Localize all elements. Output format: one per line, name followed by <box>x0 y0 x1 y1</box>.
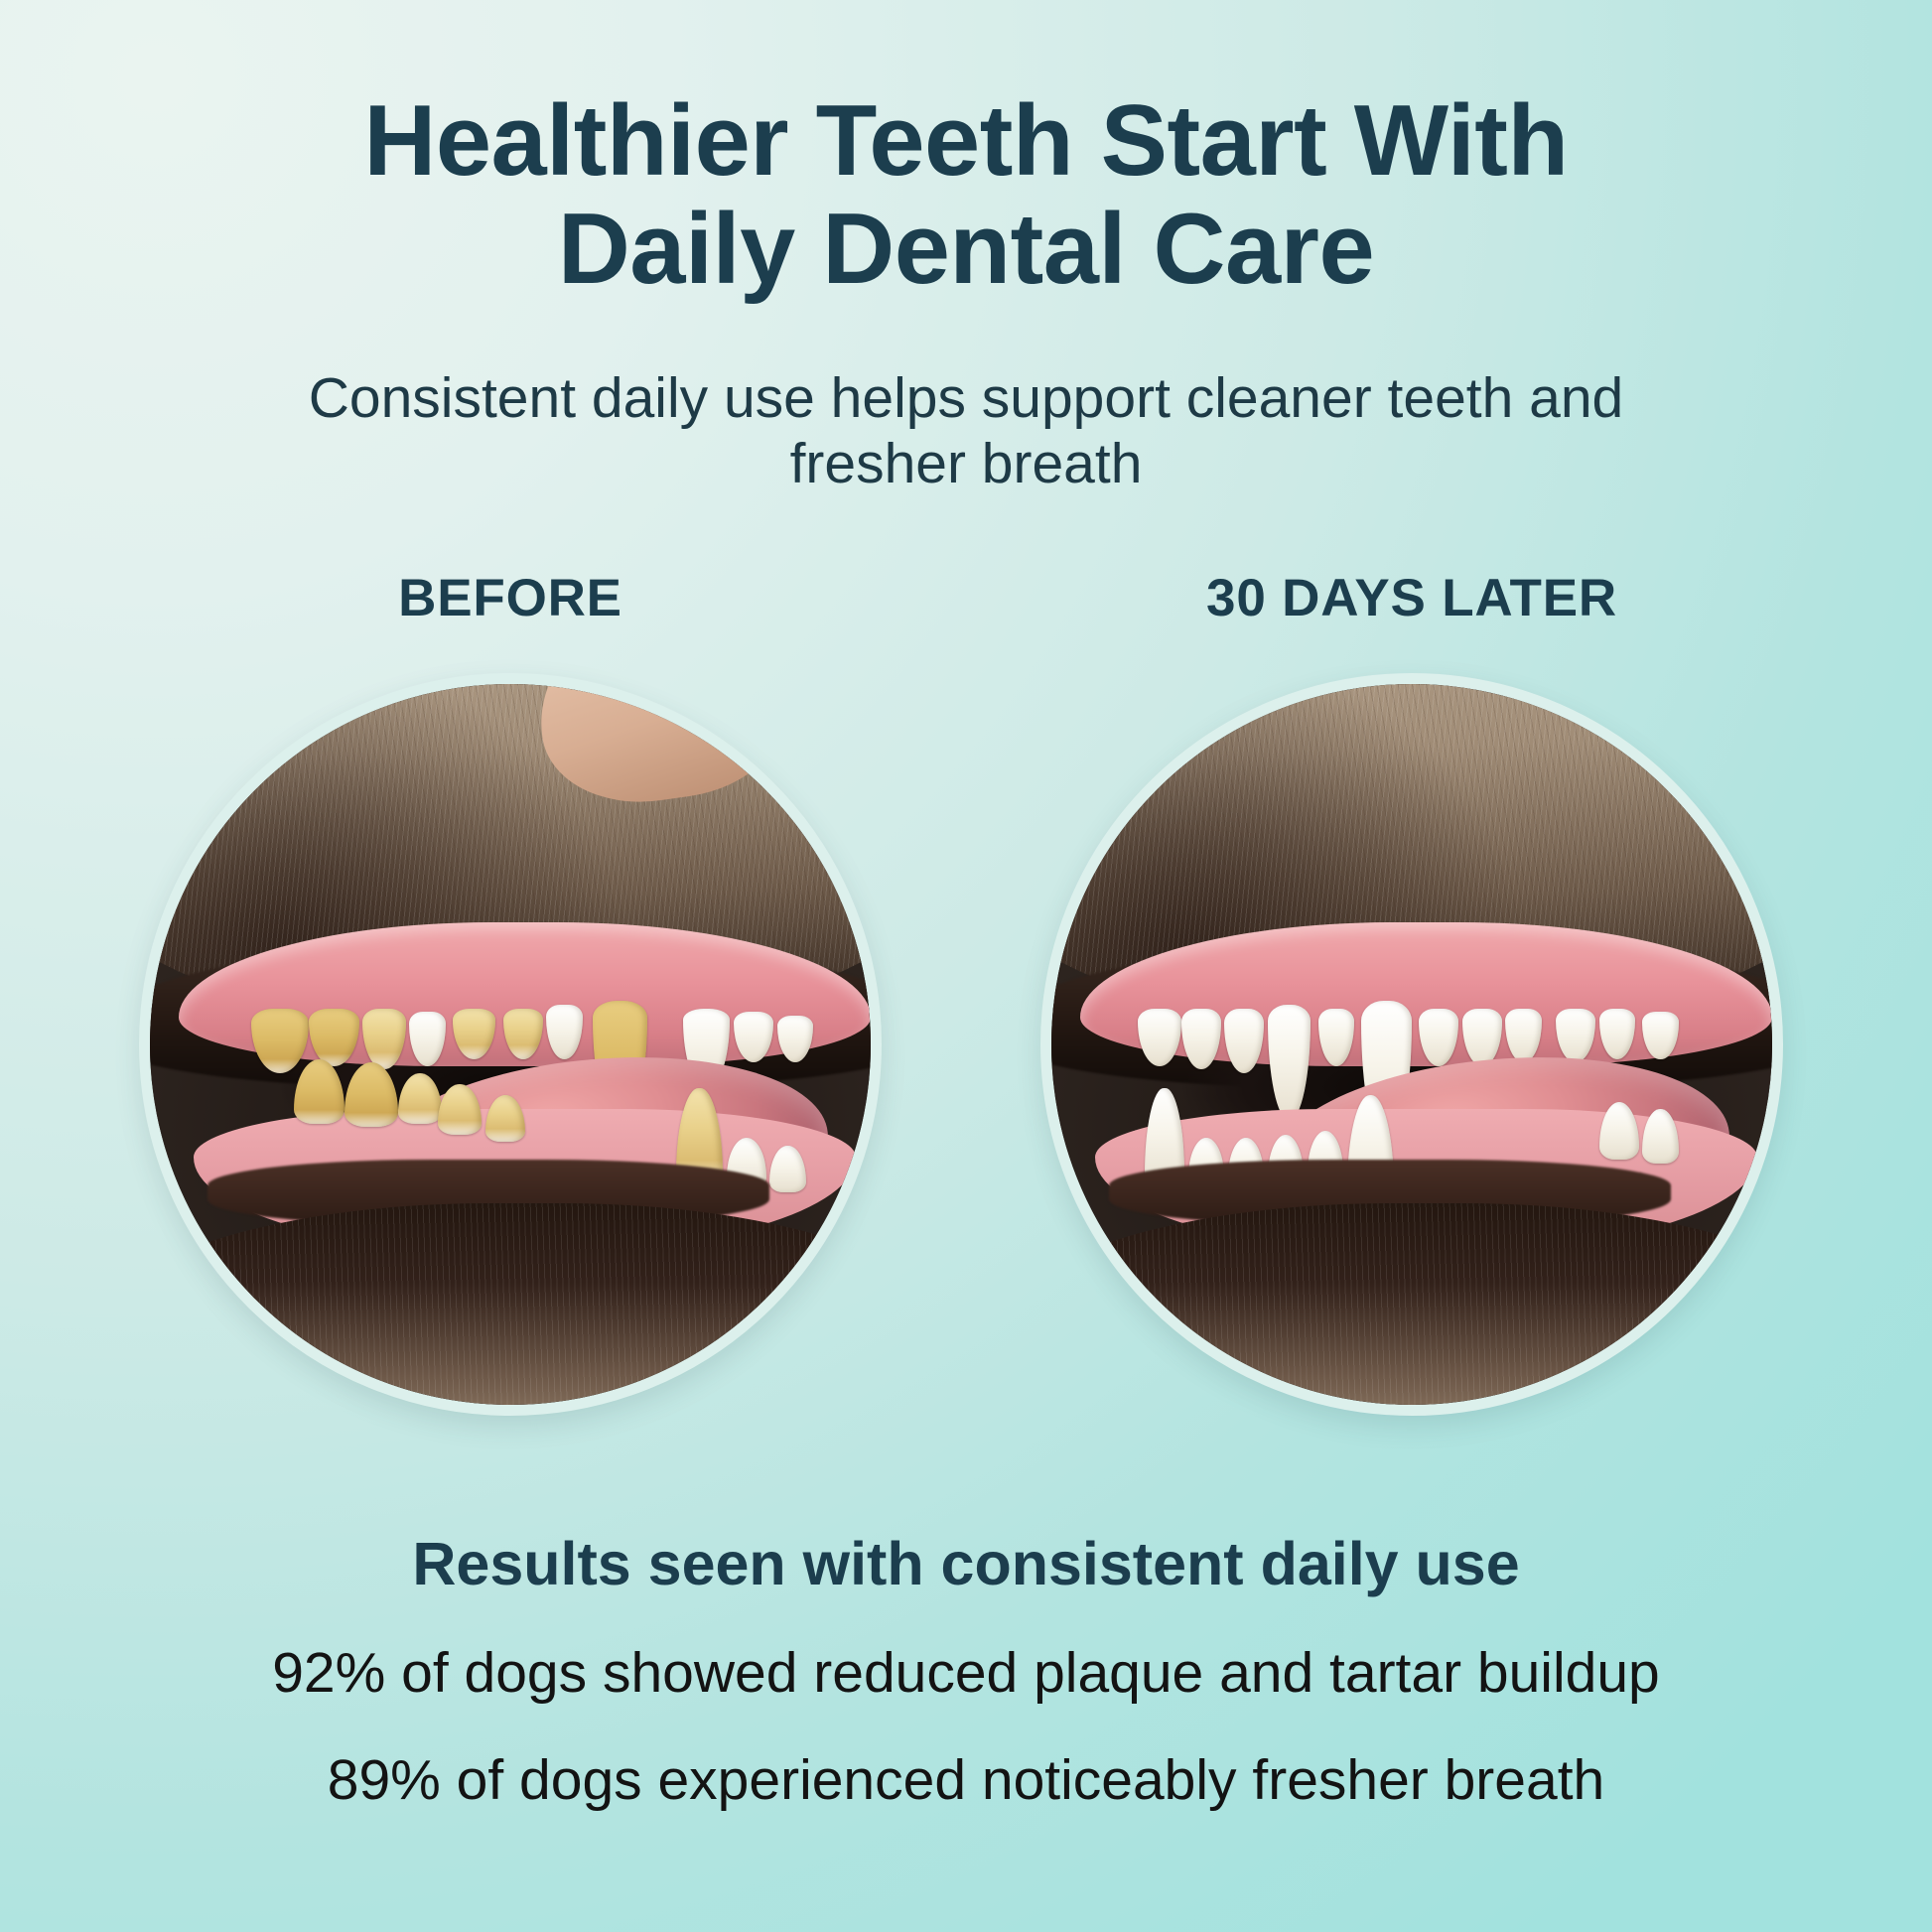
lower-jaw-fur <box>1051 1203 1772 1405</box>
page-title: Healthier Teeth Start With Daily Dental … <box>0 87 1932 304</box>
comparison-labels: BEFORE 30 DAYS LATER <box>0 568 1932 637</box>
subtitle-line-1: Consistent daily use helps support clean… <box>309 366 1372 430</box>
before-label: BEFORE <box>139 568 882 628</box>
headline-line-2: Daily Dental Care <box>149 196 1783 304</box>
after-image-circle <box>1040 673 1783 1416</box>
stat-plaque-reduction: 92% of dogs showed reduced plaque and ta… <box>0 1640 1932 1706</box>
headline-line-1: Healthier Teeth Start With <box>363 85 1568 197</box>
before-image-circle <box>139 673 882 1416</box>
results-heading: Results seen with consistent daily use <box>0 1529 1932 1598</box>
lower-jaw-fur <box>150 1203 871 1405</box>
after-photo <box>1051 684 1772 1405</box>
after-label: 30 DAYS LATER <box>1040 568 1783 628</box>
dental-care-promo-poster: Healthier Teeth Start With Daily Dental … <box>0 0 1932 1932</box>
before-photo <box>150 684 871 1405</box>
stat-fresher-breath: 89% of dogs experienced noticeably fresh… <box>0 1747 1932 1813</box>
subtitle: Consistent daily use helps support clean… <box>0 365 1932 496</box>
